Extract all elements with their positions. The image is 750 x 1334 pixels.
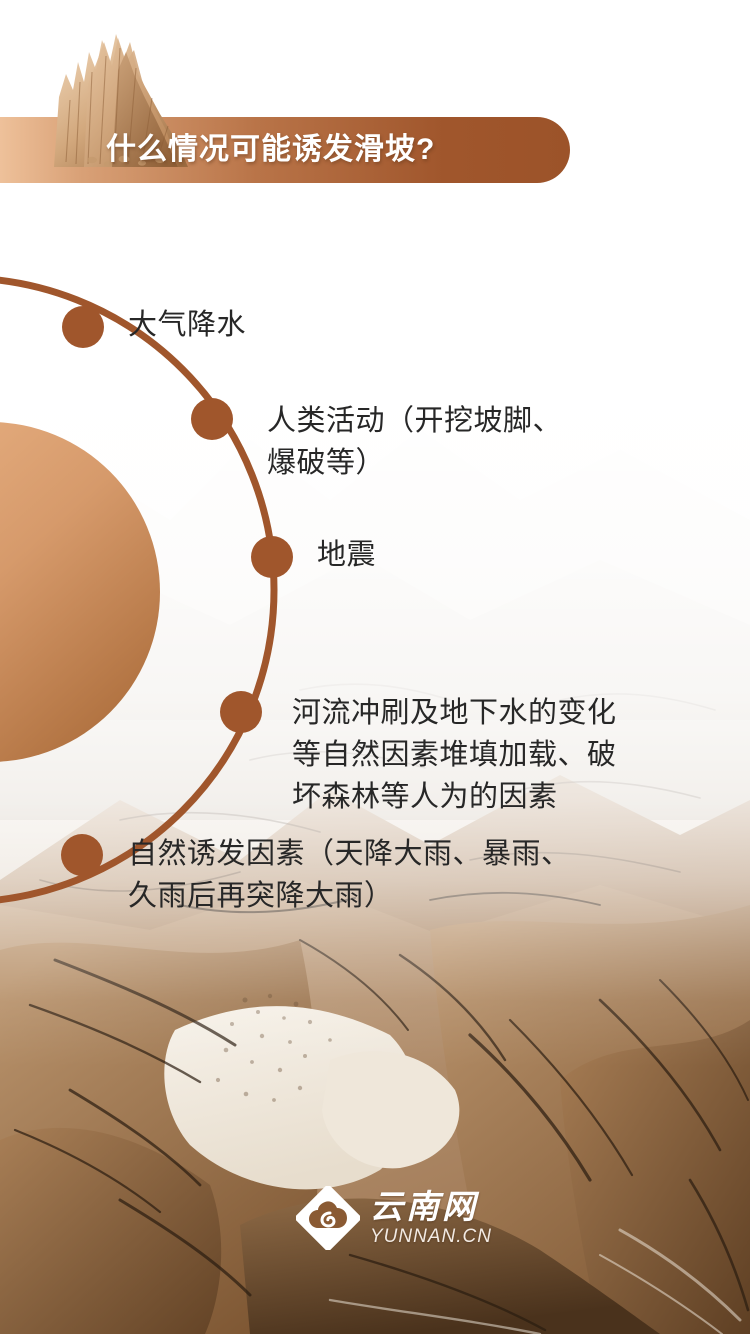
node-label-river-erosion-groundwater: 河流冲刷及地下水的变化 等自然因素堆填加载、破 坏森林等人为的因素 xyxy=(292,692,617,818)
node-label-atmospheric-precipitation: 大气降水 xyxy=(128,304,246,346)
node-dot-natural-trigger-rainfall[interactable] xyxy=(61,834,103,876)
logo-name-cn: 云南网 xyxy=(370,1190,492,1223)
yunnan-cloud-logo-icon xyxy=(296,1186,360,1250)
node-label-earthquake: 地震 xyxy=(317,534,376,576)
page-title: 什么情况可能诱发滑坡? xyxy=(106,128,435,172)
node-dot-earthquake[interactable] xyxy=(251,536,293,578)
accent-circle xyxy=(0,422,160,762)
infographic-poster: 什么情况可能诱发滑坡? 大气降水 人类活动（开挖坡脚、 爆破等） 地震 河流冲刷… xyxy=(0,0,750,1334)
node-dot-river-erosion-groundwater[interactable] xyxy=(220,691,262,733)
node-dot-atmospheric-precipitation[interactable] xyxy=(62,306,104,348)
radial-factor-diagram xyxy=(0,0,750,1334)
logo-wordmark: 云南网 YUNNAN.CN xyxy=(370,1190,492,1246)
site-logo[interactable]: 云南网 YUNNAN.CN xyxy=(296,1186,492,1250)
node-dot-human-activity[interactable] xyxy=(191,398,233,440)
logo-name-en: YUNNAN.CN xyxy=(370,1227,492,1246)
node-label-human-activity: 人类活动（开挖坡脚、 爆破等） xyxy=(267,400,562,484)
node-label-natural-trigger-rainfall: 自然诱发因素（天降大雨、暴雨、 久雨后再突降大雨） xyxy=(128,833,571,917)
